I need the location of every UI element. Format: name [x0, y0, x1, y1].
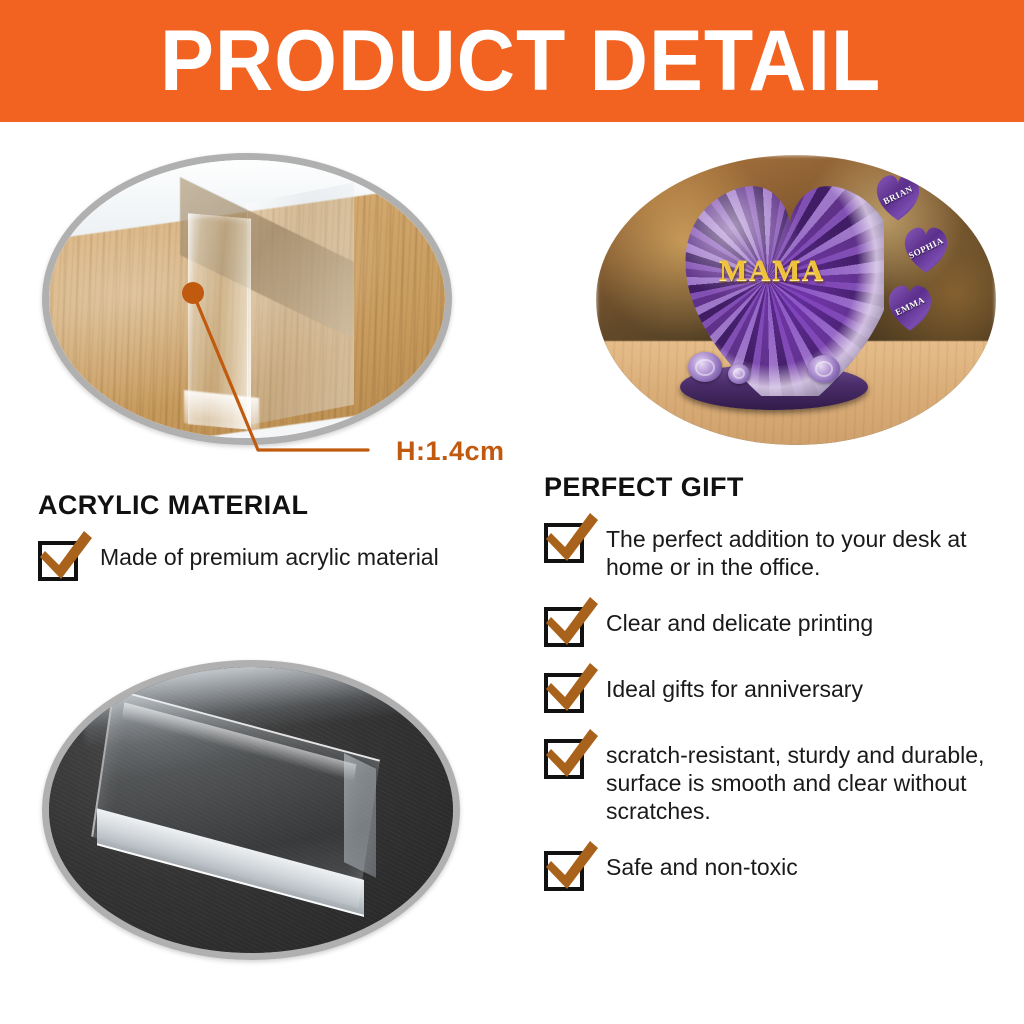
purple-rose-right: [808, 355, 840, 383]
list-item: Clear and delicate printing: [544, 605, 1010, 647]
section-perfect-gift: PERFECT GIFT The perfect addition to you…: [544, 472, 1010, 891]
feature-list-acrylic-material: Made of premium acrylic material: [38, 539, 518, 581]
list-item: Safe and non-toxic: [544, 849, 1010, 891]
photo-acrylic-slate-oval: [42, 660, 460, 960]
purple-rose-left: [688, 352, 722, 382]
checkbox-checked[interactable]: [544, 739, 584, 779]
acrylic-block-right-edge: [344, 753, 376, 877]
feature-text: Clear and delicate printing: [606, 605, 873, 637]
product-detail-page: PRODUCT DETAIL MAMA BRIAN: [0, 0, 1024, 1024]
checkbox-checked[interactable]: [544, 523, 584, 563]
amethyst-heart-photo: MAMA BRIAN SOPHIA EMMA: [596, 155, 996, 445]
checkmark-icon: [542, 511, 602, 567]
charm-heart-1-label: BRIAN: [882, 184, 915, 207]
checkbox-checked[interactable]: [544, 607, 584, 647]
list-item: Ideal gifts for anniversary: [544, 671, 1010, 713]
charm-heart-2-label: SOPHIA: [907, 235, 945, 260]
checkmark-icon: [542, 839, 602, 895]
section-title-acrylic-material: ACRYLIC MATERIAL: [38, 490, 518, 521]
feature-text: scratch-resistant, sturdy and durable, s…: [606, 737, 1010, 825]
feature-text: Safe and non-toxic: [606, 849, 798, 881]
checkmark-icon: [542, 727, 602, 783]
acrylic-slab-base-highlight: [184, 390, 259, 431]
section-acrylic-material: ACRYLIC MATERIAL Made of premium acrylic…: [38, 490, 518, 581]
acrylic-edge-photo: [49, 160, 445, 438]
page-title: PRODUCT DETAIL: [160, 18, 881, 104]
checkbox-checked[interactable]: [38, 541, 78, 581]
checkmark-icon: [542, 661, 602, 717]
charm-heart-3-label: EMMA: [894, 294, 927, 317]
feature-text: The perfect addition to your desk at hom…: [606, 521, 1010, 581]
checkbox-checked[interactable]: [544, 851, 584, 891]
feature-list-perfect-gift: The perfect addition to your desk at hom…: [544, 521, 1010, 891]
checkbox-checked[interactable]: [544, 673, 584, 713]
section-title-perfect-gift: PERFECT GIFT: [544, 472, 1010, 503]
checkmark-icon: [542, 595, 602, 651]
checkmark-icon: [36, 529, 96, 585]
list-item: The perfect addition to your desk at hom…: [544, 521, 1010, 581]
feature-text: Ideal gifts for anniversary: [606, 671, 863, 703]
dimension-label-height: H:1.4cm: [396, 436, 505, 467]
heart-engraved-name: MAMA: [719, 254, 825, 288]
list-item: Made of premium acrylic material: [38, 539, 518, 581]
acrylic-slate-photo: [49, 667, 453, 953]
list-item: scratch-resistant, sturdy and durable, s…: [544, 737, 1010, 825]
photo-acrylic-edge-oval: [42, 153, 452, 445]
feature-text: Made of premium acrylic material: [100, 539, 439, 571]
purple-rose-center: [728, 364, 750, 384]
page-header-banner: PRODUCT DETAIL: [0, 0, 1024, 122]
photo-product-oval: MAMA BRIAN SOPHIA EMMA: [596, 155, 996, 445]
